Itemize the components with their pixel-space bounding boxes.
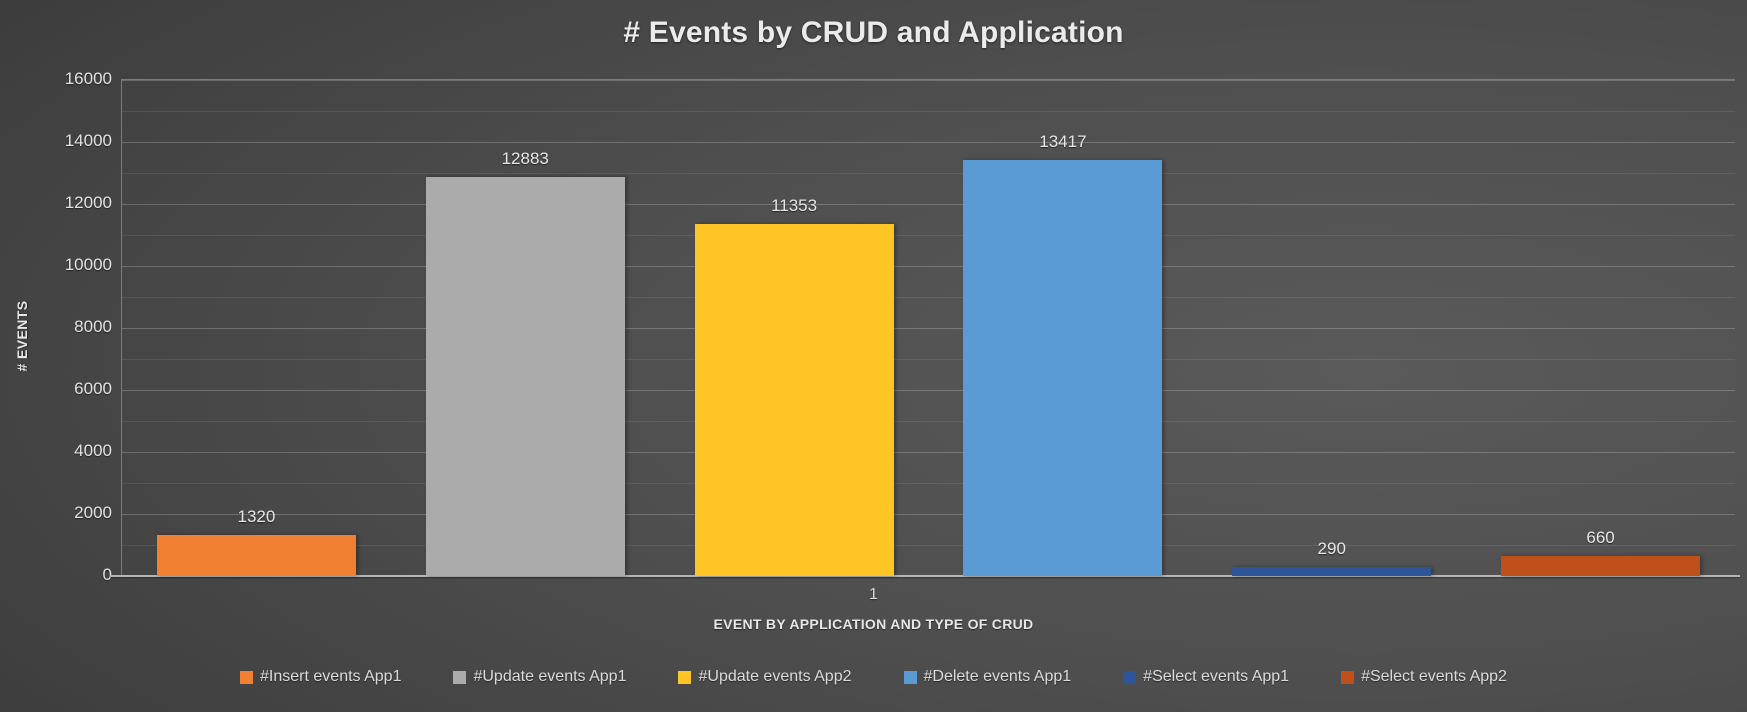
y-axis-tick-14000: 14000 — [2, 131, 112, 151]
legend-color-swatch — [1341, 671, 1354, 684]
bar-select-events-app2[interactable] — [1501, 556, 1700, 576]
bar-slot: 1320 — [122, 79, 391, 576]
y-axis-tick-10000: 10000 — [2, 255, 112, 275]
bar-update-events-app2[interactable] — [695, 224, 894, 576]
legend-color-swatch — [453, 671, 466, 684]
bar-slot: 660 — [1466, 79, 1735, 576]
x-axis-title: EVENT BY APPLICATION AND TYPE OF CRUD — [0, 616, 1747, 632]
y-axis-tick-6000: 6000 — [2, 379, 112, 399]
y-axis-tick-4000: 4000 — [2, 441, 112, 461]
bar-slot: 12883 — [391, 79, 660, 576]
bar-slot: 11353 — [660, 79, 929, 576]
x-axis-tick-label: 1 — [0, 586, 1747, 604]
bar-slot: 290 — [1197, 79, 1466, 576]
bar-slot: 13417 — [929, 79, 1198, 576]
y-axis-tick-16000: 16000 — [2, 69, 112, 89]
legend-item[interactable]: #Select events App2 — [1341, 668, 1507, 686]
bar-update-events-app1[interactable] — [426, 177, 625, 576]
legend-item[interactable]: #Delete events App1 — [904, 668, 1072, 686]
y-axis: # EVENTS 1600014000120001000080006000400… — [0, 0, 112, 712]
bar-value-label: 660 — [1466, 528, 1735, 548]
bar-value-label: 1320 — [122, 507, 391, 527]
chart-container: # Events by CRUD and Application # EVENT… — [0, 0, 1747, 712]
legend-color-swatch — [240, 671, 253, 684]
bar-value-label: 290 — [1197, 539, 1466, 559]
legend-label: #Select events App1 — [1143, 668, 1289, 686]
legend-item[interactable]: #Select events App1 — [1123, 668, 1289, 686]
y-axis-tick-12000: 12000 — [2, 193, 112, 213]
y-axis-tick-8000: 8000 — [2, 317, 112, 337]
chart-legend: #Insert events App1#Update events App1#U… — [0, 668, 1747, 686]
bar-delete-events-app1[interactable] — [963, 160, 1162, 576]
y-axis-tick-0: 0 — [2, 565, 112, 585]
bar-series-group: 1320128831135313417290660 — [122, 79, 1735, 576]
bar-value-label: 13417 — [929, 132, 1198, 152]
legend-label: #Delete events App1 — [924, 668, 1072, 686]
chart-title: # Events by CRUD and Application — [0, 16, 1747, 50]
bar-value-label: 12883 — [391, 149, 660, 169]
legend-color-swatch — [1123, 671, 1136, 684]
legend-label: #Insert events App1 — [260, 668, 401, 686]
legend-label: #Update events App2 — [698, 668, 851, 686]
legend-color-swatch — [678, 671, 691, 684]
legend-item[interactable]: #Update events App2 — [678, 668, 851, 686]
legend-item[interactable]: #Insert events App1 — [240, 668, 401, 686]
legend-color-swatch — [904, 671, 917, 684]
bar-value-label: 11353 — [660, 196, 929, 216]
y-axis-tick-2000: 2000 — [2, 503, 112, 523]
legend-label: #Select events App2 — [1361, 668, 1507, 686]
bar-insert-events-app1[interactable] — [157, 535, 356, 576]
legend-label: #Update events App1 — [473, 668, 626, 686]
bar-select-events-app1[interactable] — [1232, 567, 1431, 576]
legend-item[interactable]: #Update events App1 — [453, 668, 626, 686]
